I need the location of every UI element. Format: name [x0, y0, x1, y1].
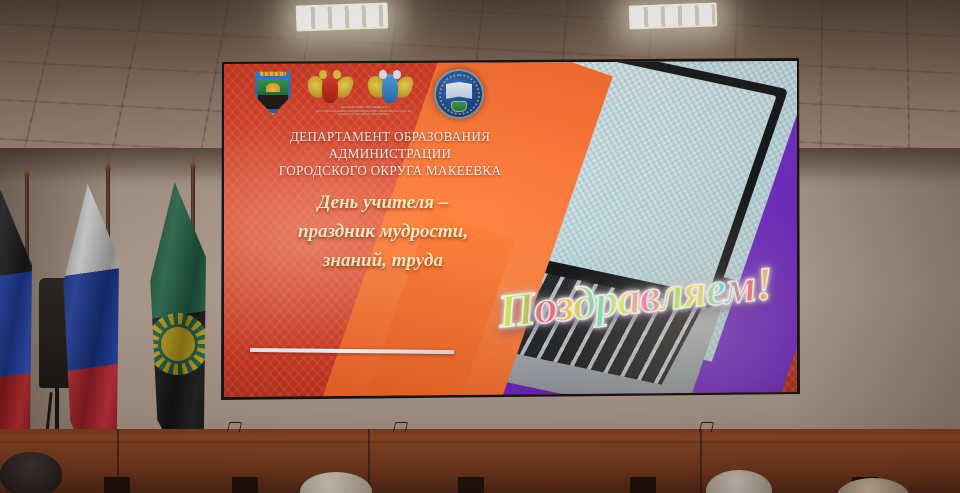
- desk-gap: [232, 477, 258, 493]
- led-video-wall[interactable]: Министерство просвещения Российской Феде…: [224, 61, 797, 397]
- sun-icon: [266, 83, 279, 92]
- microphone-clip-icon: [699, 422, 714, 432]
- desk-gap: [458, 477, 484, 493]
- crown-icon: [260, 70, 287, 76]
- desk-seam: [700, 429, 702, 493]
- emblem-russia-eagle-icon: [308, 69, 352, 109]
- department-title: ДЕПАРТАМЕНТ ОБРАЗОВАНИЯ АДМИНИСТРАЦИИ ГО…: [240, 129, 540, 180]
- eagle-head-left: [379, 70, 386, 79]
- flag-makeyevka: [158, 168, 228, 434]
- microphone-clip-icon: [393, 422, 408, 432]
- conference-hall-photo: Министерство просвещения Российской Феде…: [0, 0, 960, 493]
- audience-head: [0, 452, 62, 493]
- eagle-head-right: [393, 70, 400, 79]
- flag-russia: [73, 170, 143, 438]
- desk-gap: [104, 477, 130, 493]
- slide-slogan: День учителя – праздник мудрости, знаний…: [236, 189, 530, 276]
- sun-emblem-icon: [147, 313, 209, 375]
- microphone-clip-icon: [227, 422, 242, 432]
- desk-gap: [630, 477, 656, 493]
- eagle-head-right: [333, 70, 340, 79]
- ceiling-light-right: [629, 2, 718, 29]
- ceiling-light-left: [296, 2, 389, 31]
- flag-dnr: [0, 176, 62, 438]
- emblem-dnr-eagle-icon: [368, 69, 412, 109]
- ministry-caption: Министерство просвещения Российской Феде…: [280, 106, 448, 117]
- eagle-head-left: [319, 70, 326, 79]
